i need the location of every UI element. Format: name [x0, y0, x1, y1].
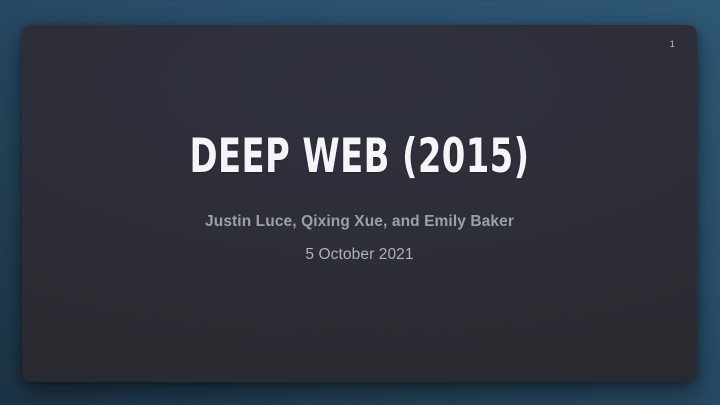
slide-number: 1: [670, 40, 675, 49]
slide-content: Deep Web (2015) Justin Luce, Qixing Xue,…: [22, 133, 697, 265]
slide-authors: Justin Luce, Qixing Xue, and Emily Baker: [62, 212, 657, 231]
slide-card[interactable]: 1 Deep Web (2015) Justin Luce, Qixing Xu…: [22, 25, 697, 382]
slide-date: 5 October 2021: [62, 245, 657, 264]
slide-title: Deep Web (2015): [122, 133, 598, 182]
presentation-backdrop: 1 Deep Web (2015) Justin Luce, Qixing Xu…: [0, 0, 720, 405]
